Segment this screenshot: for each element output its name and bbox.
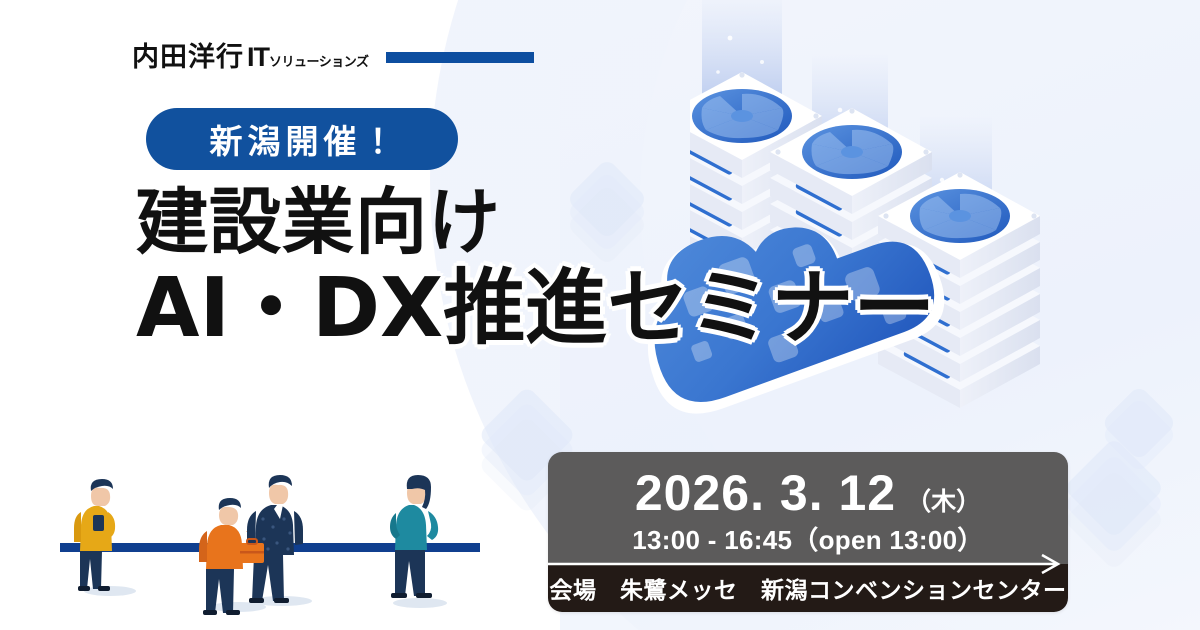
event-time: 13:00 - 16:45（open 13:00） <box>632 527 983 553</box>
event-venue: 会場 朱鷺メッセ 新潟コンベンションセンター <box>550 571 1067 605</box>
event-day-of-week: （木） <box>906 489 981 514</box>
logo-kanji-text: 内田洋行 <box>132 44 244 71</box>
company-logo: 内田洋行 IT ソリューションズ <box>132 44 534 71</box>
event-date-row: 2026. 3. 12 （木） <box>635 468 981 518</box>
event-date: 2026. 3. 12 <box>635 468 896 518</box>
logo-accent-bar <box>386 52 534 63</box>
person-navy-suit <box>240 475 303 603</box>
event-info-panel: 2026. 3. 12 （木） 13:00 - 16:45（open 13:00… <box>548 452 1068 612</box>
person-yellow <box>74 479 115 591</box>
person-teal <box>390 475 438 598</box>
headline-line-2: AI・DX推進セミナー <box>136 266 935 351</box>
logo-it-text: IT <box>247 44 269 71</box>
headline-line-1: 建設業向け <box>136 185 935 260</box>
page-title: 建設業向け AI・DX推進セミナー <box>136 185 935 351</box>
event-venue-section: 会場 朱鷺メッセ 新潟コンベンションセンター <box>548 564 1068 612</box>
location-badge-label: 新潟開催！ <box>205 115 400 163</box>
location-badge: 新潟開催！ <box>146 108 458 170</box>
event-date-section: 2026. 3. 12 （木） 13:00 - 16:45（open 13:00… <box>548 452 1068 564</box>
people-group-icon <box>60 455 480 630</box>
logo-solutions-text: ソリューションズ <box>269 56 368 69</box>
seminar-banner: 内田洋行 IT ソリューションズ 新潟開催！ 建設業向け AI・DX推進セミナー <box>0 0 1200 630</box>
